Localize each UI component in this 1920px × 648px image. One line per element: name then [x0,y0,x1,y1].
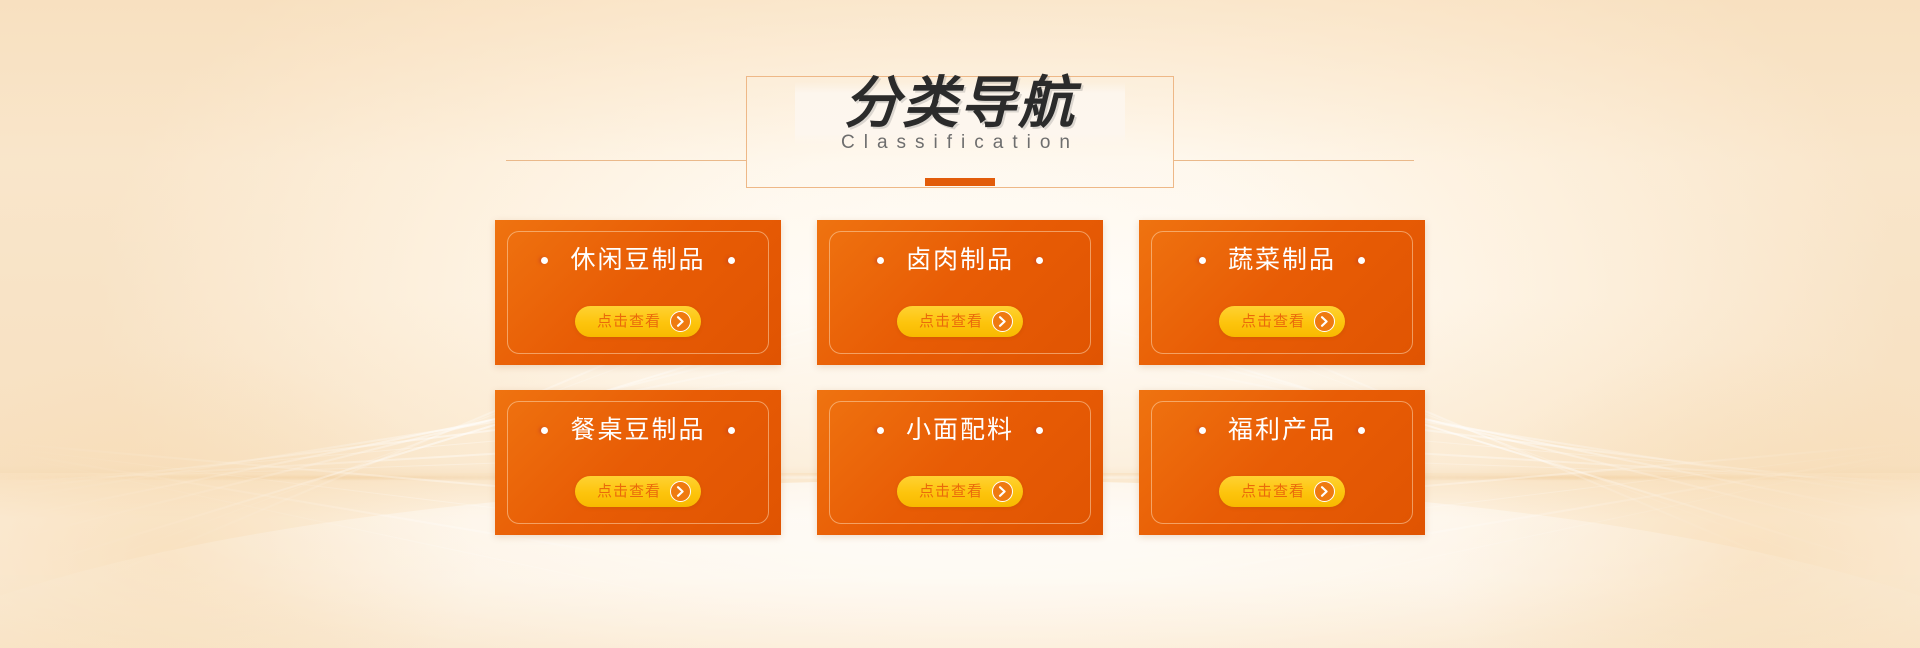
category-card[interactable]: 卤肉制品点击查看 [817,220,1103,365]
section-header: 分类导航 Classification [0,30,1920,190]
card-title: 卤肉制品 [906,248,1014,273]
bullet-dot-icon [728,427,735,434]
bullet-dot-icon [1036,427,1043,434]
view-button[interactable]: 点击查看 [897,306,1023,337]
card-title-row: 休闲豆制品 [495,248,781,273]
chevron-right-icon [992,311,1013,332]
view-button-label: 点击查看 [597,484,661,499]
card-title: 休闲豆制品 [570,248,705,273]
view-button[interactable]: 点击查看 [1219,476,1345,507]
card-title: 小面配料 [906,418,1014,443]
chevron-right-icon [670,311,691,332]
category-card[interactable]: 福利产品点击查看 [1139,390,1425,535]
card-title-row: 卤肉制品 [817,248,1103,273]
card-title-row: 蔬菜制品 [1139,248,1425,273]
page-title: 分类导航 [844,58,1076,139]
bullet-dot-icon [1199,257,1206,264]
bullet-dot-icon [541,257,548,264]
header-rule-left [506,160,746,161]
card-title-row: 小面配料 [817,418,1103,443]
card-title-row: 福利产品 [1139,418,1425,443]
view-button[interactable]: 点击查看 [897,476,1023,507]
bullet-dot-icon [541,427,548,434]
view-button[interactable]: 点击查看 [575,476,701,507]
chevron-right-icon [670,481,691,502]
page-subtitle: Classification [841,132,1079,154]
header-accent-bar [925,178,995,186]
category-card[interactable]: 餐桌豆制品点击查看 [495,390,781,535]
header-rule-right [1174,160,1414,161]
view-button-label: 点击查看 [1241,314,1305,329]
bullet-dot-icon [1358,427,1365,434]
category-grid: 休闲豆制品点击查看卤肉制品点击查看蔬菜制品点击查看餐桌豆制品点击查看小面配料点击… [495,220,1425,535]
view-button[interactable]: 点击查看 [1219,306,1345,337]
bullet-dot-icon [877,257,884,264]
bullet-dot-icon [1036,257,1043,264]
card-title-row: 餐桌豆制品 [495,418,781,443]
view-button-label: 点击查看 [919,484,983,499]
view-button-label: 点击查看 [1241,484,1305,499]
category-card[interactable]: 蔬菜制品点击查看 [1139,220,1425,365]
bullet-dot-icon [877,427,884,434]
chevron-right-icon [992,481,1013,502]
card-title: 福利产品 [1228,418,1336,443]
category-card[interactable]: 休闲豆制品点击查看 [495,220,781,365]
classification-section: 分类导航 Classification 休闲豆制品点击查看卤肉制品点击查看蔬菜制… [0,0,1920,648]
chevron-right-icon [1314,481,1335,502]
view-button-label: 点击查看 [919,314,983,329]
view-button[interactable]: 点击查看 [575,306,701,337]
category-card[interactable]: 小面配料点击查看 [817,390,1103,535]
card-title: 蔬菜制品 [1228,248,1336,273]
bullet-dot-icon [728,257,735,264]
card-title: 餐桌豆制品 [570,418,705,443]
chevron-right-icon [1314,311,1335,332]
bullet-dot-icon [1358,257,1365,264]
bullet-dot-icon [1199,427,1206,434]
view-button-label: 点击查看 [597,314,661,329]
